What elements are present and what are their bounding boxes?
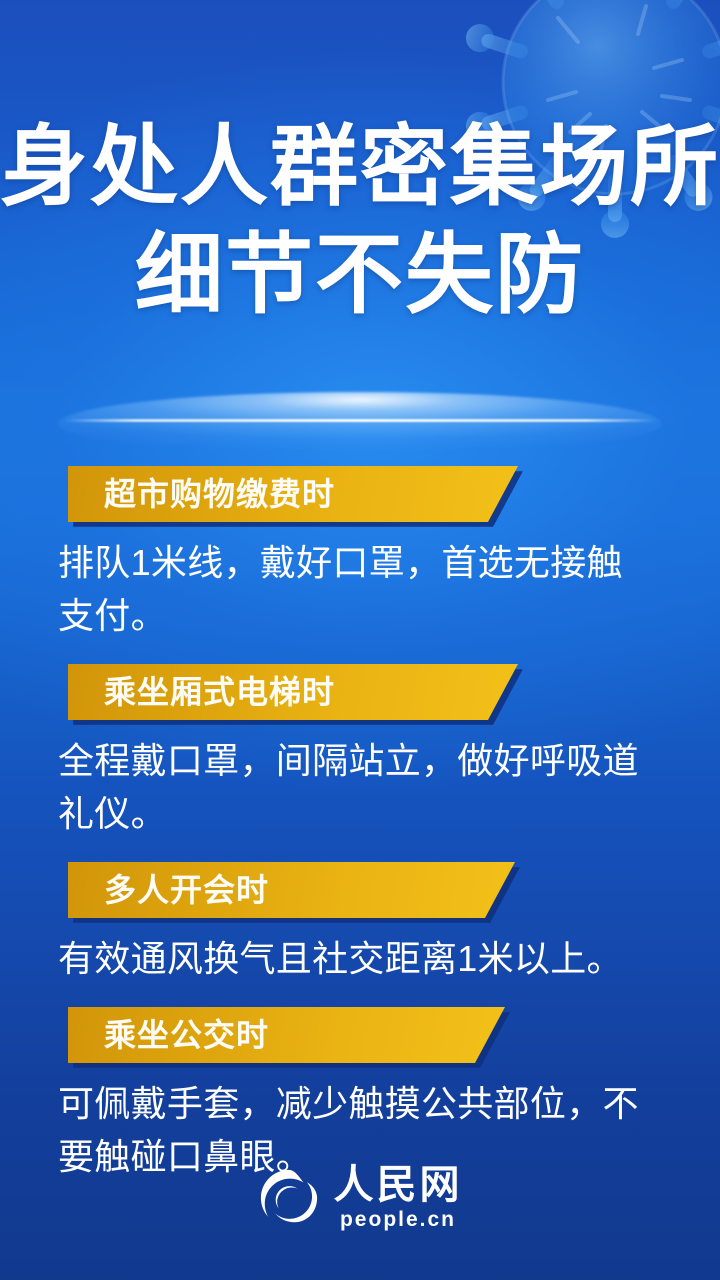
tips-list: 超市购物缴费时 排队1米线，戴好口罩，首选无接触支付。 乘坐厢式电梯时 全程戴口… (0, 466, 720, 1183)
people-cn-globe-icon (258, 1167, 320, 1229)
logo-text-block: 人民网 people.cn (334, 1164, 463, 1232)
tip-body-text: 有效通风换气且社交距离1米以上。 (58, 932, 658, 985)
tip-section: 乘坐公交时 可佩戴手套，减少触摸公共部位，不要触碰口鼻眼。 (0, 1007, 720, 1183)
tip-banner: 乘坐公交时 (68, 1007, 505, 1063)
site-logo: 人民网 people.cn (0, 1164, 720, 1232)
title-line-2: 细节不失防 (0, 220, 720, 328)
tip-banner-row: 乘坐厢式电梯时 (68, 664, 720, 720)
glow-lens-shape (58, 392, 662, 456)
tip-section: 多人开会时 有效通风换气且社交距离1米以上。 (0, 862, 720, 985)
page-title: 身处人群密集场所 细节不失防 (0, 112, 720, 328)
tip-banner-row: 超市购物缴费时 (68, 466, 720, 522)
tip-banner-label: 超市购物缴费时 (68, 478, 335, 510)
tip-banner: 乘坐厢式电梯时 (68, 664, 518, 720)
lens-glow-divider (58, 392, 662, 456)
tip-banner-label: 乘坐厢式电梯时 (68, 676, 335, 708)
tip-banner-label: 多人开会时 (68, 874, 269, 906)
tip-section: 超市购物缴费时 排队1米线，戴好口罩，首选无接触支付。 (0, 466, 720, 642)
logo-brand-en: people.cn (340, 1208, 456, 1232)
tip-banner-label: 乘坐公交时 (68, 1019, 269, 1051)
tip-body-text: 全程戴口罩，间隔站立，做好呼吸道礼仪。 (58, 734, 658, 840)
glow-streak-line (64, 419, 656, 422)
tip-banner: 多人开会时 (68, 862, 515, 918)
tip-banner: 超市购物缴费时 (68, 466, 518, 522)
tip-banner-row: 多人开会时 (68, 862, 720, 918)
title-line-1: 身处人群密集场所 (0, 112, 720, 220)
tip-section: 乘坐厢式电梯时 全程戴口罩，间隔站立，做好呼吸道礼仪。 (0, 664, 720, 840)
tip-body-text: 排队1米线，戴好口罩，首选无接触支付。 (58, 536, 658, 642)
poster-root: 身处人群密集场所 细节不失防 超市购物缴费时 排队1米线，戴好口罩，首选无接触支… (0, 0, 720, 1280)
tip-banner-row: 乘坐公交时 (68, 1007, 720, 1063)
logo-brand-cn: 人民网 (334, 1164, 463, 1206)
